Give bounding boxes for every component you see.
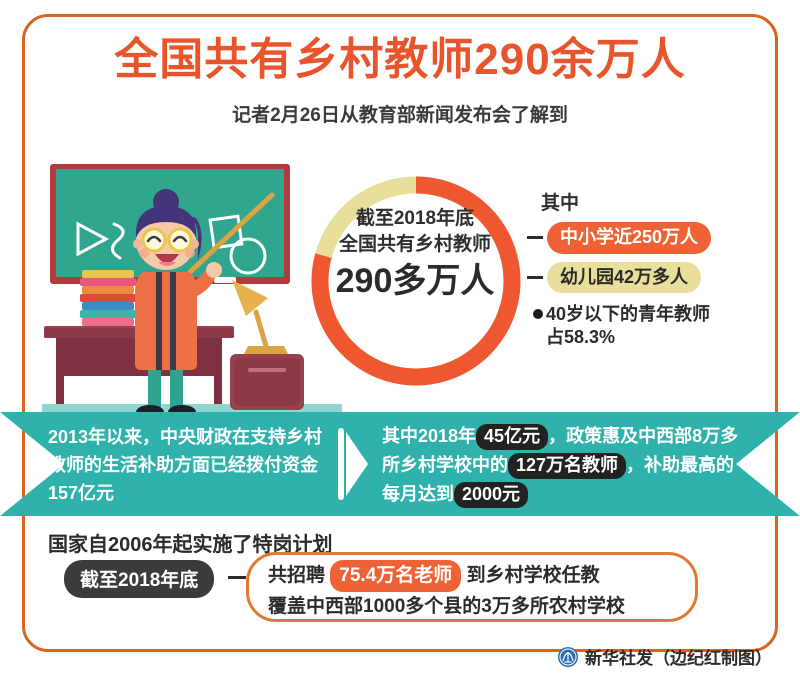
bottom-callout-text: 共招聘 75.4万名老师 到乡村学校任教 覆盖中西部1000多个县的3万多所农村…	[268, 560, 688, 622]
page-title: 全国共有乡村教师290余万人	[0, 36, 800, 84]
donut-label-value: 290多万人	[312, 259, 518, 303]
classroom-teacher-illustration	[42, 140, 342, 430]
legend-note: 40岁以下的青年教师 占58.3%	[533, 303, 777, 350]
callout-pill-754wan: 75.4万名老师	[330, 560, 461, 592]
callout-seg-2: 到乡村学校任教	[467, 565, 600, 586]
legend-pill-primary-school: 中小学近250万人	[547, 222, 711, 254]
leader-line-icon	[527, 236, 543, 239]
ribbon-right-text: 其中2018年45亿元，政策惠及中西部8万多所乡村学校中的127万名教师，补助最…	[382, 422, 752, 509]
donut-legend: 其中 中小学近250万人 幼儿园42万多人 40岁以下的青年教师 占58.3%	[527, 188, 777, 350]
bottom-date-tag: 截至2018年底	[64, 560, 214, 598]
legend-heading: 其中	[541, 188, 777, 215]
credit-line: 新华社发（边纪红制图）	[557, 644, 772, 669]
xinhua-logo-icon	[557, 646, 579, 668]
callout-seg-1: 共招聘	[268, 565, 325, 586]
credit-text: 新华社发（边纪红制图）	[585, 644, 772, 669]
tag-connector-line-icon	[228, 576, 246, 579]
donut-label-line2: 全国共有乡村教师	[312, 232, 518, 258]
legend-note-line2: 占58.3%	[546, 326, 777, 349]
donut-label-line1: 截至2018年底	[312, 206, 518, 232]
ribbon-left-text: 2013年以来，中央财政在支持乡村教师的生活补助方面已经拨付资金157亿元	[48, 424, 338, 508]
callout-line2: 覆盖中西部1000多个县的3万多所农村学校	[268, 592, 688, 621]
legend-item-kindergarten[interactable]: 幼儿园42万多人	[527, 262, 777, 294]
legend-note-line1: 40岁以下的青年教师	[546, 304, 710, 324]
legend-item-primary-school[interactable]: 中小学近250万人	[527, 222, 777, 254]
ribbon-chip-45yi: 45亿元	[476, 424, 548, 450]
ribbon-chip-127wan: 127万名教师	[508, 453, 626, 479]
bullet-dot-icon	[533, 309, 543, 319]
arrow-right-icon	[338, 424, 372, 504]
leader-line-icon	[527, 276, 543, 279]
ribbon-chip-2000yuan: 2000元	[454, 482, 528, 508]
infographic-poster: 全国共有乡村教师290余万人 记者2月26日从教育部新闻发布会了解到	[0, 0, 800, 678]
page-subtitle: 记者2月26日从教育部新闻发布会了解到	[0, 100, 800, 127]
legend-pill-kindergarten: 幼儿园42万多人	[547, 262, 701, 294]
ribbon-seg-1: 其中2018年	[382, 426, 476, 446]
donut-center-label: 截至2018年底 全国共有乡村教师 290多万人	[312, 206, 518, 303]
